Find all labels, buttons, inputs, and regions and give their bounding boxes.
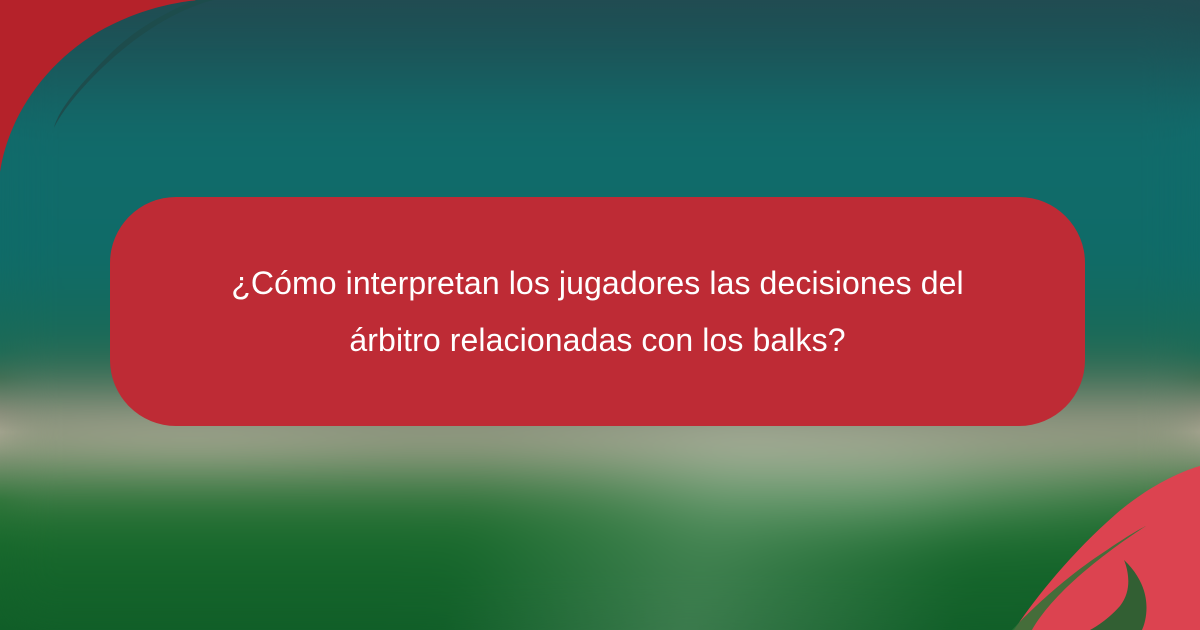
question-card: ¿Cómo interpretan los jugadores las deci…	[110, 197, 1085, 426]
og-image-canvas: ¿Cómo interpretan los jugadores las deci…	[0, 0, 1200, 630]
question-text: ¿Cómo interpretan los jugadores las deci…	[198, 255, 998, 369]
